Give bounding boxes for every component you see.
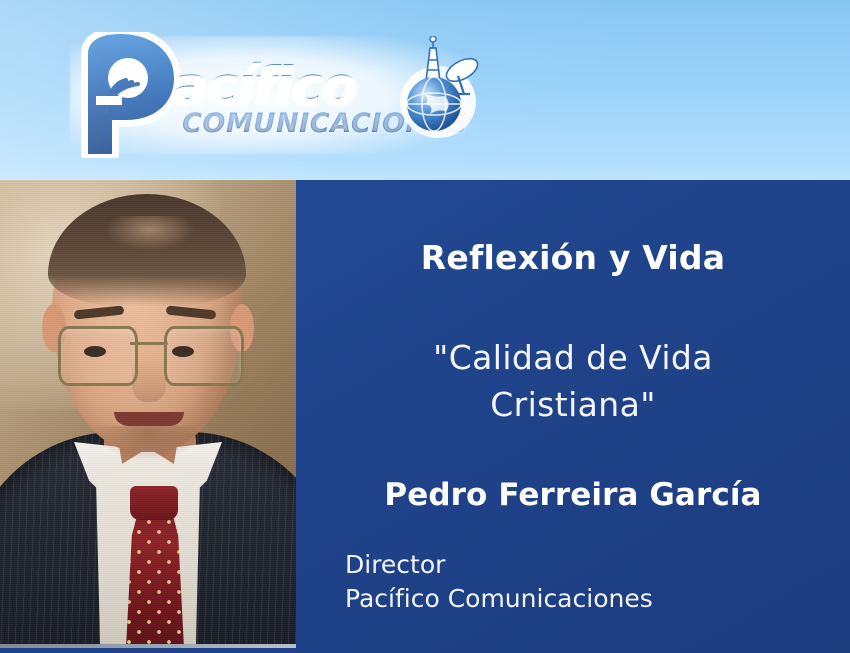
logo-wordmark: acífico COMUNICACIONES bbox=[172, 60, 356, 113]
program-subtitle-line-1: "Calidad de Vida bbox=[316, 335, 830, 382]
program-subtitle: "Calidad de Vida Cristiana" bbox=[316, 335, 830, 429]
photo-bottom-strip bbox=[0, 644, 296, 648]
program-slide: acífico COMUNICACIONES bbox=[0, 0, 850, 653]
logo-p-mark-icon bbox=[78, 32, 184, 158]
photo-glasses-bridge bbox=[130, 342, 168, 345]
speaker-role-block: Director Pacífico Comunicaciones bbox=[345, 548, 845, 615]
speaker-portrait-photo bbox=[0, 180, 296, 648]
photo-necktie-knot bbox=[130, 486, 178, 520]
photo-lens-right bbox=[164, 326, 244, 386]
speaker-name: Pedro Ferreira García bbox=[296, 477, 850, 513]
photo-nose bbox=[132, 358, 166, 402]
speaker-organization: Pacífico Comunicaciones bbox=[345, 582, 845, 616]
program-subtitle-line-2: Cristiana" bbox=[316, 382, 830, 429]
info-panel: Reflexión y Vida "Calidad de Vida Cristi… bbox=[296, 180, 850, 653]
globe-icon bbox=[407, 77, 461, 131]
program-title: Reflexión y Vida bbox=[296, 238, 850, 277]
speaker-role-title: Director bbox=[345, 548, 845, 582]
photo-chin-shadow bbox=[96, 426, 200, 460]
photo-mouth bbox=[114, 412, 184, 426]
logo-word-main: acífico bbox=[172, 60, 356, 113]
header-band: acífico COMUNICACIONES bbox=[0, 0, 850, 180]
pacifico-logo[interactable]: acífico COMUNICACIONES bbox=[64, 30, 494, 160]
globe-tower-dish-icon bbox=[394, 36, 486, 140]
photo-lens-left bbox=[58, 326, 138, 386]
body-row: Reflexión y Vida "Calidad de Vida Cristi… bbox=[0, 180, 850, 653]
